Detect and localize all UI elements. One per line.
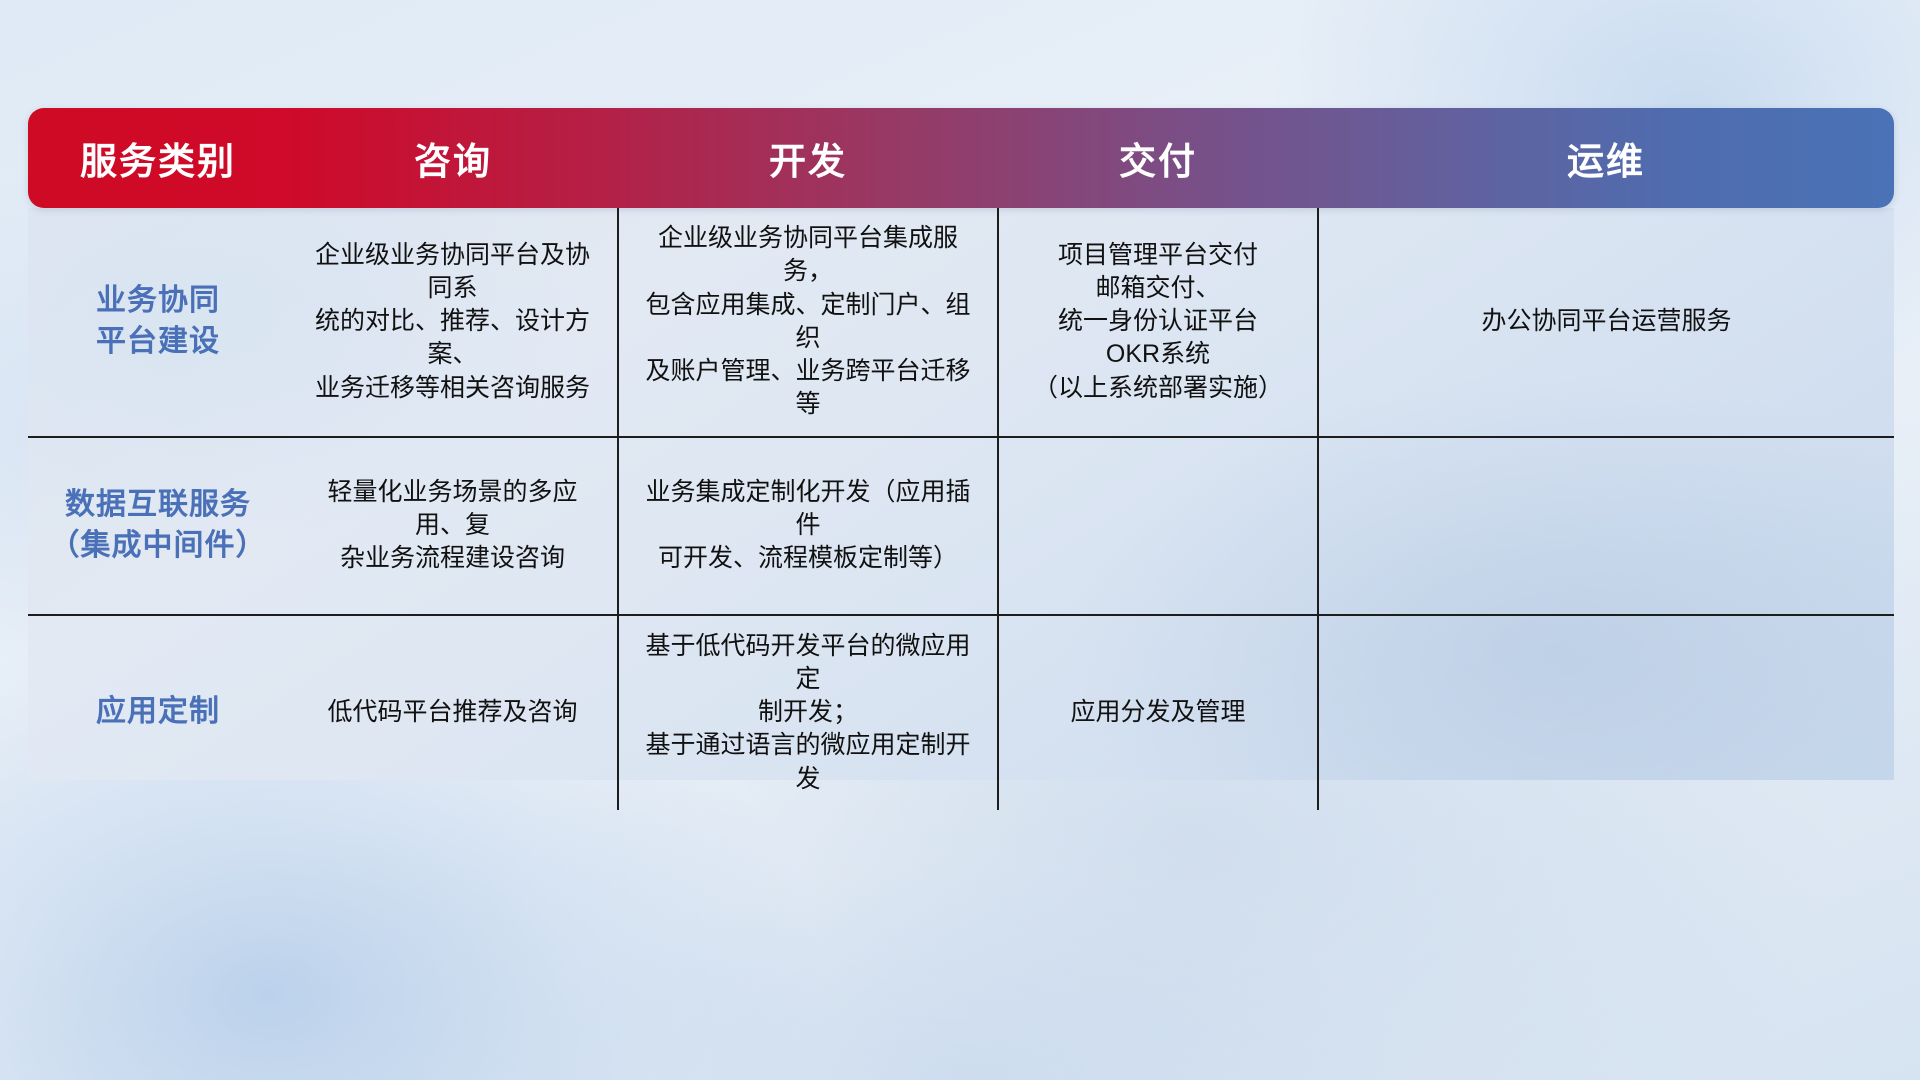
table-header: 服务类别 咨询 开发 交付 运维 (28, 108, 1894, 208)
table-row: 数据互联服务 （集成中间件） 轻量化业务场景的多应用、复 杂业务流程建设咨询 业… (28, 437, 1894, 615)
cell-operations-row3 (1318, 615, 1894, 810)
column-header-delivery: 交付 (998, 108, 1318, 208)
cell-development-row2: 业务集成定制化开发（应用插件 可开发、流程模板定制等） (618, 437, 998, 615)
cell-operations-row2 (1318, 437, 1894, 615)
table-header-row: 服务类别 咨询 开发 交付 运维 (28, 108, 1894, 208)
cell-development-row1: 企业级业务协同平台集成服务， 包含应用集成、定制门户、组织 及账户管理、业务跨平… (618, 208, 998, 437)
table-body: 业务协同 平台建设 企业级业务协同平台及协同系 统的对比、推荐、设计方案、 业务… (28, 208, 1894, 810)
cell-consulting-row2: 轻量化业务场景的多应用、复 杂业务流程建设咨询 (288, 437, 618, 615)
table-row: 业务协同 平台建设 企业级业务协同平台及协同系 统的对比、推荐、设计方案、 业务… (28, 208, 1894, 437)
service-matrix-table-container: 服务类别 咨询 开发 交付 运维 业务协同 平台建设 企业级业务协同平台及协同系… (28, 108, 1894, 780)
cell-consulting-row3: 低代码平台推荐及咨询 (288, 615, 618, 810)
column-header-service-category: 服务类别 (28, 108, 288, 208)
cell-category-row3: 应用定制 (28, 615, 288, 810)
cell-consulting-row1: 企业级业务协同平台及协同系 统的对比、推荐、设计方案、 业务迁移等相关咨询服务 (288, 208, 618, 437)
cell-category-row1: 业务协同 平台建设 (28, 208, 288, 437)
cell-delivery-row3: 应用分发及管理 (998, 615, 1318, 810)
column-header-development: 开发 (618, 108, 998, 208)
column-header-operations: 运维 (1318, 108, 1894, 208)
cell-delivery-row2 (998, 437, 1318, 615)
cell-development-row3: 基于低代码开发平台的微应用定 制开发； 基于通过语言的微应用定制开发 (618, 615, 998, 810)
cell-delivery-row1: 项目管理平台交付 邮箱交付、 统一身份认证平台 OKR系统 （以上系统部署实施） (998, 208, 1318, 437)
table-row: 应用定制 低代码平台推荐及咨询 基于低代码开发平台的微应用定 制开发； 基于通过… (28, 615, 1894, 810)
service-matrix-table: 服务类别 咨询 开发 交付 运维 业务协同 平台建设 企业级业务协同平台及协同系… (28, 108, 1894, 810)
column-header-consulting: 咨询 (288, 108, 618, 208)
cell-operations-row1: 办公协同平台运营服务 (1318, 208, 1894, 437)
cell-category-row2: 数据互联服务 （集成中间件） (28, 437, 288, 615)
